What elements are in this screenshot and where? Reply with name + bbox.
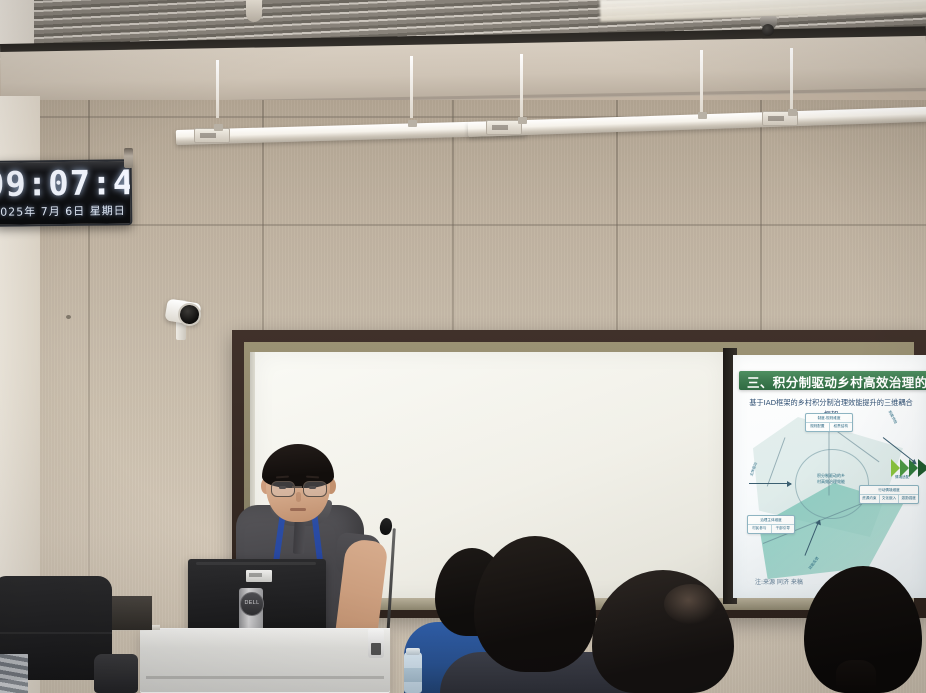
diagram-connector — [829, 424, 830, 496]
diagram-box-header: 治理主体维度 — [748, 516, 794, 525]
speaker-mouth — [290, 508, 306, 511]
diagram-box-right: 行动情境维度 资源约束 文化嵌入 激励强度 — [859, 485, 919, 504]
striped-fabric — [0, 654, 28, 693]
light-driver-box — [194, 128, 230, 143]
diagram-box-cell: 资源约束 — [860, 495, 879, 503]
audience-person-4-hair — [836, 660, 876, 693]
wall-clock: 09:07:44 2025年 7月 6日 星期日 — [0, 159, 132, 227]
diagram-box-cell: 权责结构 — [829, 423, 853, 431]
light-clip — [518, 117, 527, 124]
diagram-box-top: 制度-规则维度 规则配置 权责结构 — [805, 413, 853, 432]
wall-mount-bracket-icon — [124, 148, 133, 168]
monitor-top-highlight — [196, 562, 316, 565]
wall-fixture-dot — [66, 315, 71, 319]
monitor-spec-label — [246, 570, 272, 582]
diagram-box-left: 治理主体维度 村民参与 干部引导 — [747, 515, 795, 534]
bottle-cap — [406, 648, 420, 655]
lecture-hall-photo: 09:07:44 2025年 7月 6日 星期日 三、积分制驱动乡村高效治理的三… — [0, 0, 926, 693]
glasses-lens-left-icon — [271, 481, 295, 497]
light-clip — [698, 112, 707, 119]
light-driver-box — [486, 120, 522, 135]
diagram-box-cell: 村民参与 — [748, 525, 771, 533]
clock-date: 2025年 7月 6日 星期日 — [0, 202, 132, 220]
projected-slide[interactable]: 三、积分制驱动乡村高效治理的三维 基于IAD框架的乡村积分制治理效能提升的三维耦… — [733, 355, 926, 598]
wall-trim-line — [0, 224, 926, 226]
dell-logo — [240, 592, 264, 616]
light-suspension-rod — [216, 60, 219, 118]
speaker-nose — [296, 492, 301, 502]
chevron-arrows-icon — [891, 459, 926, 477]
diagram-box-header: 行动情境维度 — [860, 486, 918, 495]
slide-title: 三、积分制驱动乡村高效治理的三维 — [747, 372, 926, 391]
podium[interactable] — [140, 630, 390, 693]
diagram-center-label: 积分制驱动的乡 村高效治理效能 — [801, 473, 861, 484]
podium-trim — [146, 676, 384, 679]
chair-seam — [0, 632, 112, 634]
light-clip — [788, 109, 797, 116]
ceiling-sprinkler-icon — [246, 0, 262, 22]
light-clip — [408, 120, 417, 127]
bottle-label — [404, 668, 422, 682]
diagram-box-cell: 激励强度 — [898, 495, 918, 503]
clock-time: 09:07:44 — [0, 163, 132, 205]
diagram-arrow-left — [749, 483, 791, 484]
glasses-lens-right-icon — [303, 481, 327, 497]
dome-camera-icon — [760, 16, 777, 29]
light-suspension-rod — [520, 54, 523, 118]
audience-person-3-crown — [664, 584, 718, 624]
diagram-box-cell: 文化嵌入 — [879, 495, 899, 503]
diagram-box-cell: 干部引导 — [771, 525, 795, 533]
office-chair-armrest — [94, 654, 138, 693]
light-suspension-rod — [700, 50, 703, 116]
slide-title-bar: 三、积分制驱动乡村高效治理的三维 — [739, 371, 926, 390]
light-suspension-rod — [790, 48, 793, 116]
podium-device[interactable] — [368, 628, 384, 658]
diagram-box-cell: 规则配置 — [806, 423, 829, 431]
diagram-box-header: 制度-规则维度 — [806, 414, 852, 423]
glasses-bridge-icon — [292, 486, 302, 488]
light-clip — [214, 124, 223, 131]
light-suspension-rod — [410, 56, 413, 118]
